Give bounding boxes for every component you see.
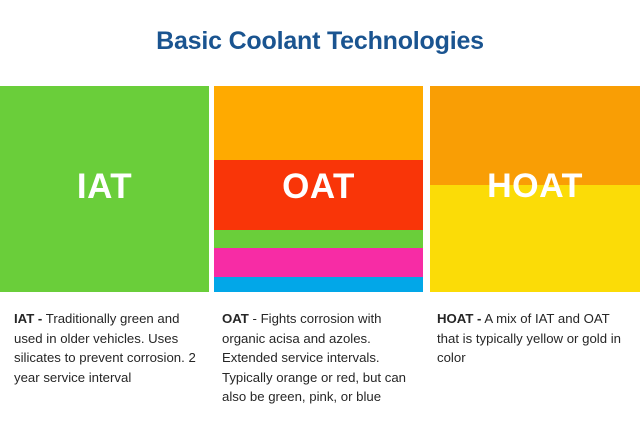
- color-band-blue: [214, 277, 423, 292]
- color-band-green: [214, 230, 423, 248]
- caption-iat: IAT - Traditionally green and used in ol…: [14, 309, 210, 387]
- color-band-orange: [214, 86, 423, 160]
- panel-label-hoat: HOAT: [430, 169, 640, 203]
- page-title: Basic Coolant Technologies: [0, 27, 640, 56]
- panel-label-iat: IAT: [0, 169, 209, 204]
- slide-canvas: Basic Coolant Technologies IAT OAT HOAT …: [0, 0, 640, 442]
- caption-term-iat: IAT -: [14, 311, 42, 326]
- caption-oat: OAT - Fights corrosion with organic acis…: [222, 309, 420, 407]
- panel-label-oat: OAT: [214, 169, 423, 204]
- caption-term-hoat: HOAT -: [437, 311, 481, 326]
- caption-body-iat: Traditionally green and used in older ve…: [14, 311, 196, 385]
- color-band-magenta: [214, 248, 423, 277]
- caption-hoat: HOAT - A mix of IAT and OAT that is typi…: [437, 309, 635, 368]
- caption-term-oat: OAT: [222, 311, 249, 326]
- caption-body-oat: - Fights corrosion with organic acisa an…: [222, 311, 406, 404]
